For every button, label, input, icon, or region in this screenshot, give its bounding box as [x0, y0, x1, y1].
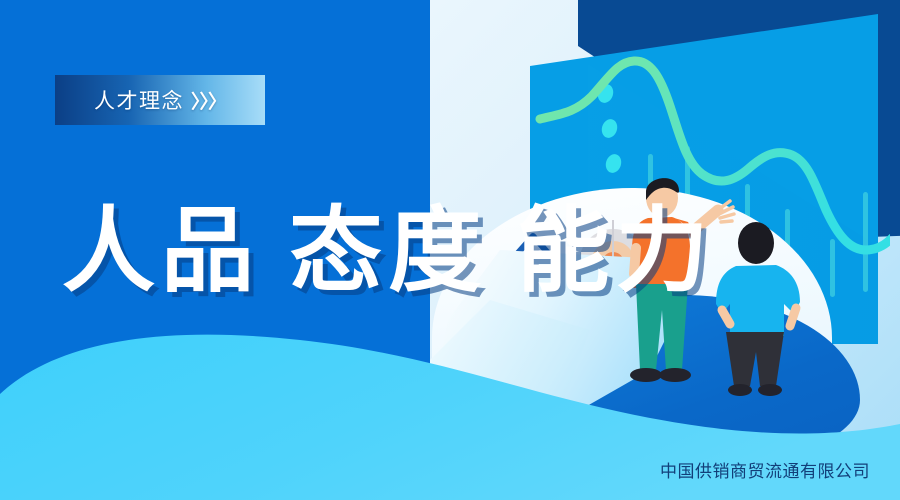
chevrons-right-icon: 〉〉〉 [191, 87, 226, 114]
page-title: 人品 态度 能力 [62, 206, 715, 299]
company-name: 中国供销商贸流通有限公司 [660, 457, 870, 482]
talent-philosophy-banner: 人才理念 〉〉〉 人品 态度 能力 中国供销商贸流通有限公司 [0, 0, 900, 500]
talent-philosophy-badge: 人才理念 〉〉〉 [55, 75, 265, 125]
listener-head [738, 222, 774, 264]
badge-label: 人才理念 [94, 85, 184, 115]
